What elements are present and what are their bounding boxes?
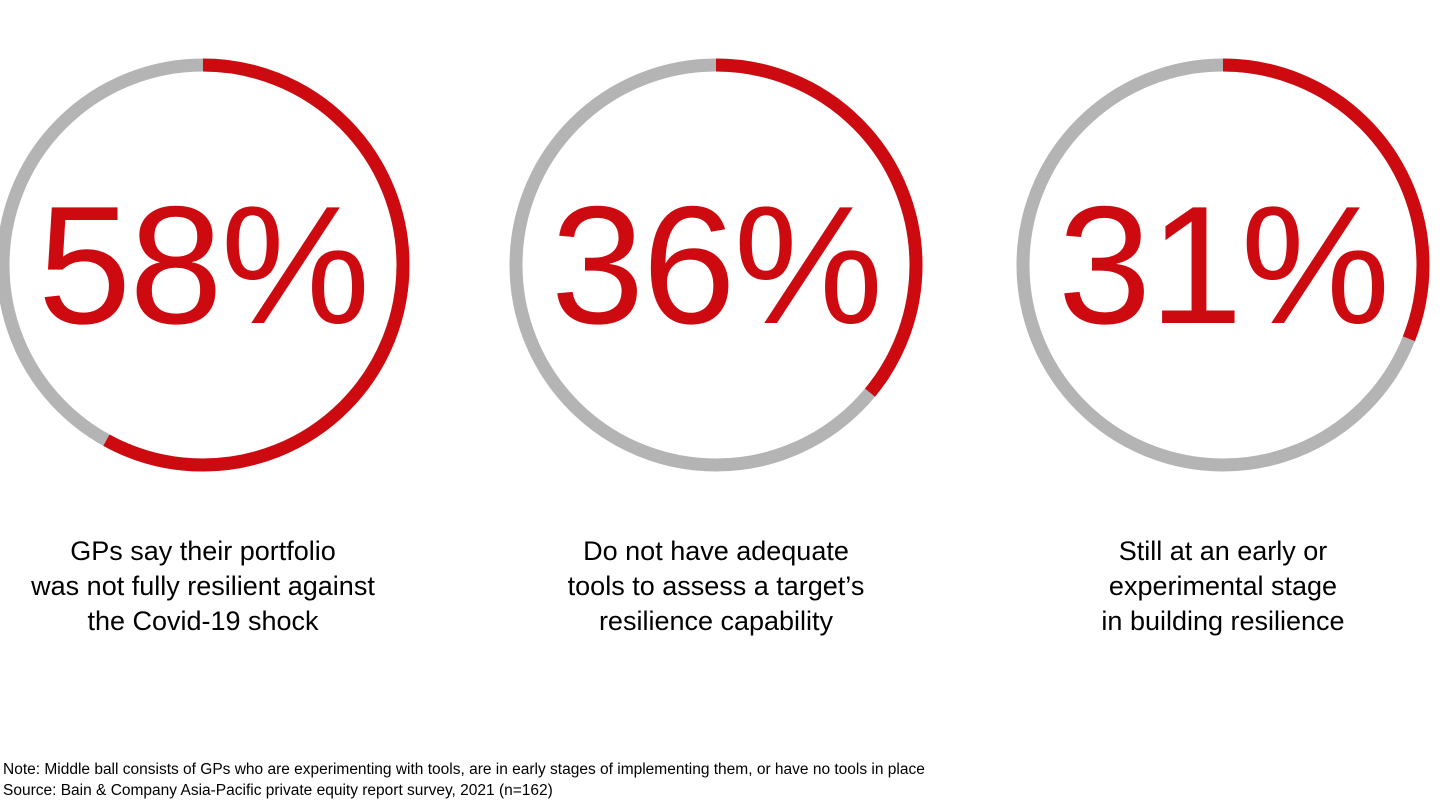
stats-row: 58% GPs say their portfolio was not full… bbox=[0, 0, 1440, 680]
stat-caption-1: GPs say their portfolio was not fully re… bbox=[0, 534, 423, 639]
donut-value-3: 31% bbox=[1016, 58, 1430, 472]
donut-value-2: 36% bbox=[509, 58, 923, 472]
donut-value-1: 58% bbox=[0, 58, 410, 472]
stat-caption-1-line-1: GPs say their portfolio bbox=[0, 534, 423, 569]
donut-chart-3: 31% bbox=[1016, 58, 1430, 472]
stat-caption-1-line-3: the Covid-19 shock bbox=[0, 604, 423, 639]
stat-caption-3: Still at an early or experimental stage … bbox=[1003, 534, 1440, 639]
donut-chart-2: 36% bbox=[509, 58, 923, 472]
stat-block-1: 58% GPs say their portfolio was not full… bbox=[0, 0, 423, 680]
stat-caption-3-line-3: in building resilience bbox=[1003, 604, 1440, 639]
stat-caption-2: Do not have adequate tools to assess a t… bbox=[496, 534, 936, 639]
stat-caption-3-line-2: experimental stage bbox=[1003, 569, 1440, 604]
stat-caption-1-line-2: was not fully resilient against bbox=[0, 569, 423, 604]
footnote-source: Source: Bain & Company Asia-Pacific priv… bbox=[3, 780, 1437, 801]
stat-block-3: 31% Still at an early or experimental st… bbox=[1003, 0, 1440, 680]
stat-caption-3-line-1: Still at an early or bbox=[1003, 534, 1440, 569]
stat-caption-2-line-1: Do not have adequate bbox=[496, 534, 936, 569]
donut-chart-1: 58% bbox=[0, 58, 410, 472]
stat-caption-2-line-3: resilience capability bbox=[496, 604, 936, 639]
stat-block-2: 36% Do not have adequate tools to assess… bbox=[496, 0, 936, 680]
footnote-note: Note: Middle ball consists of GPs who ar… bbox=[3, 759, 1437, 780]
stat-caption-2-line-2: tools to assess a target’s bbox=[496, 569, 936, 604]
footnotes: Note: Middle ball consists of GPs who ar… bbox=[3, 759, 1437, 801]
